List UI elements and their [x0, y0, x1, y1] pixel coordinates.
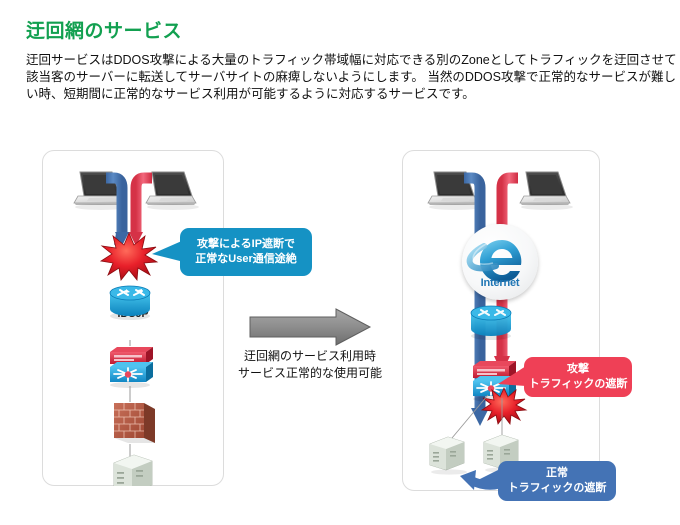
internet-badge: Internet: [462, 224, 538, 300]
callout-attack-block-line1: 攻撃によるIP遮断で: [197, 237, 295, 252]
description-line-3: い時、短期間に正常的なサービス利用が可能するように対応するサービスです。: [26, 87, 475, 101]
callout-attack-block[interactable]: 攻撃によるIP遮断で 正常なUser通信途絶: [180, 228, 312, 276]
callout-normal-traffic[interactable]: 正常 トラフィックの遮断: [498, 461, 616, 501]
callout-attack-traffic-line1: 攻撃: [567, 362, 589, 377]
red-traffic-pipe: [129, 178, 152, 246]
callout-normal-traffic-line2: トラフィックの遮断: [508, 481, 607, 496]
transition-arrow-icon: [248, 308, 372, 346]
router-icon: [110, 286, 150, 320]
page-description: 迂回サービスはDDOS攻撃による大量のトラフィック帯域幅に対応できる別のZone…: [26, 52, 656, 103]
callout-attack-traffic-line2: トラフィックの遮断: [529, 377, 628, 392]
callout-attack-block-line2: 正常なUser通信途絶: [195, 252, 296, 267]
laptop-icon-right: [520, 172, 573, 210]
transition-caption-line1: 迂回網のサービス利用時: [230, 348, 390, 365]
server-icon-left: [430, 437, 467, 475]
explosion-icon: [101, 233, 157, 280]
callout-attack-traffic[interactable]: 攻撃 トラフィックの遮断: [524, 357, 632, 397]
after-state-graphics: [402, 150, 600, 491]
before-state-graphics: [42, 150, 224, 486]
page-title: 迂回網のサービス: [26, 16, 182, 43]
laptop-icon-right: [146, 172, 199, 210]
firewall-brick-icon: [114, 403, 155, 443]
description-line-2: 該当客のサーバーに転送してサーバサイトの麻痺しないようにします。 当然のDDOS…: [26, 70, 676, 84]
server-icon: [114, 455, 156, 486]
internet-label: Internet: [462, 277, 538, 289]
callout-normal-traffic-line1: 正常: [546, 466, 568, 481]
description-line-1: 迂回サービスはDDOS攻撃による大量のトラフィック帯域幅に対応できる別のZone…: [26, 53, 677, 67]
switch-icon: [110, 347, 153, 388]
transition-caption-line2: サービス正常的な使用可能: [230, 365, 390, 382]
router-icon: [471, 306, 511, 340]
transition-caption: 迂回網のサービス利用時 サービス正常的な使用可能: [230, 348, 390, 382]
